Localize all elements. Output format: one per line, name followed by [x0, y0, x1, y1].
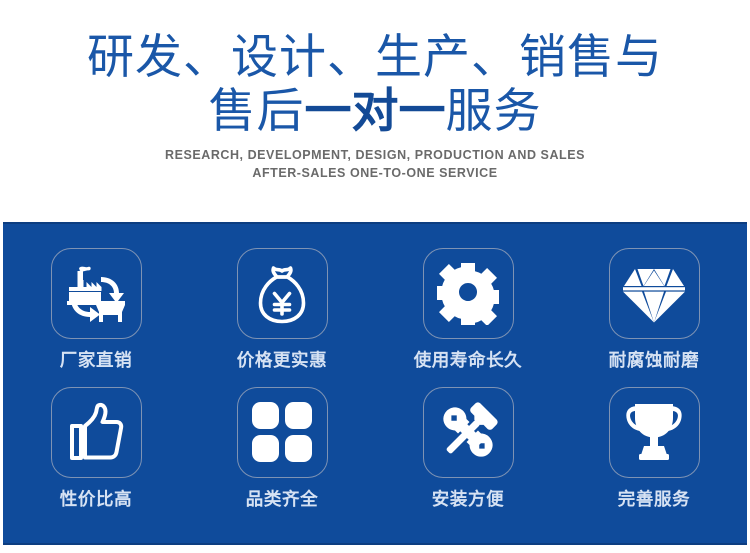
- gear-icon: [437, 263, 499, 325]
- promo-banner: 研发、设计、生产、销售与 售后一对一服务 RESEARCH, DEVELOPME…: [0, 0, 750, 553]
- features-row-1: 厂家直销: [3, 248, 747, 370]
- feature-item-corrosion-wear-resistant[interactable]: 耐腐蚀耐磨: [584, 248, 724, 370]
- feature-label: 品类齐全: [246, 491, 318, 509]
- feature-item-long-lifespan[interactable]: 使用寿命长久: [398, 248, 538, 370]
- features-grid: 厂家直销: [3, 224, 747, 543]
- feature-item-good-value[interactable]: 性价比高: [26, 387, 166, 509]
- feature-label: 性价比高: [60, 491, 132, 509]
- wrench-hammer-icon: [437, 401, 499, 463]
- headline-line-2-suffix: 服务: [446, 84, 542, 137]
- feature-icon-card: [423, 248, 514, 339]
- features-panel: 厂家直销: [3, 222, 747, 545]
- feature-icon-card: [237, 248, 328, 339]
- feature-item-full-category[interactable]: 品类齐全: [212, 387, 352, 509]
- feature-icon-card: [609, 387, 700, 478]
- money-bag-yuan-icon: [254, 263, 310, 325]
- headline-line-2: 售后一对一服务: [0, 87, 750, 134]
- feature-icon-card: [51, 387, 142, 478]
- feature-label: 使用寿命长久: [414, 352, 523, 370]
- feature-label: 安装方便: [432, 491, 504, 509]
- feature-icon-card: [609, 248, 700, 339]
- four-squares-grid-icon: [252, 402, 312, 462]
- feature-icon-card: [51, 248, 142, 339]
- headline-line-1: 研发、设计、生产、销售与: [0, 33, 750, 80]
- feature-label: 价格更实惠: [237, 352, 328, 370]
- feature-item-better-price[interactable]: 价格更实惠: [212, 248, 352, 370]
- trophy-icon: [623, 401, 685, 463]
- feature-icon-card: [237, 387, 328, 478]
- subtitle-line-2: AFTER-SALES ONE-TO-ONE SERVICE: [0, 164, 750, 182]
- factory-to-shop-icon: [65, 265, 127, 323]
- feature-label: 耐腐蚀耐磨: [609, 352, 700, 370]
- feature-label: 厂家直销: [60, 352, 132, 370]
- subtitle-line-1: RESEARCH, DEVELOPMENT, DESIGN, PRODUCTIO…: [0, 146, 750, 164]
- headline-line-2-prefix: 售后: [209, 84, 305, 137]
- feature-icon-card: [423, 387, 514, 478]
- features-row-2: 性价比高 品类齐全: [3, 387, 747, 509]
- feature-label: 完善服务: [618, 491, 690, 509]
- feature-item-factory-direct[interactable]: 厂家直销: [26, 248, 166, 370]
- thumbs-up-icon: [67, 402, 125, 462]
- feature-item-complete-service[interactable]: 完善服务: [584, 387, 724, 509]
- diamond-icon: [622, 264, 686, 324]
- headline-line-2-emphasis: 一对一: [305, 84, 446, 137]
- header-section: 研发、设计、生产、销售与 售后一对一服务 RESEARCH, DEVELOPME…: [0, 0, 750, 222]
- feature-item-easy-install[interactable]: 安装方便: [398, 387, 538, 509]
